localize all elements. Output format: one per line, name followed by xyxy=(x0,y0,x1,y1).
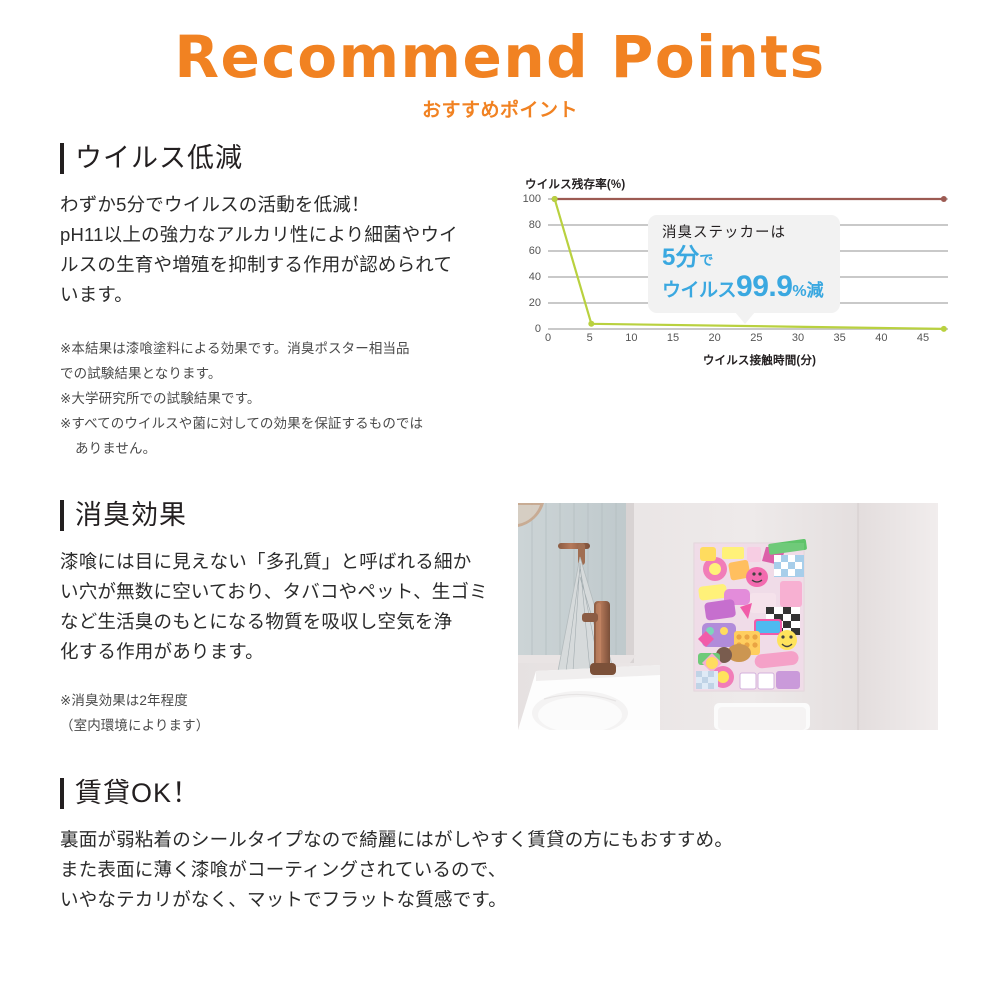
note-line: での試験結果となります。 xyxy=(60,362,510,387)
note-line: ※消臭効果は2年程度 xyxy=(60,689,510,714)
body-line: 漆喰には目に見えない「多孔質」と呼ばれる細か xyxy=(60,547,510,577)
chart-y-tick-label: 20 xyxy=(529,297,541,309)
rental-ok-heading-text: 賃貸OK！ xyxy=(75,780,200,807)
page-header: Recommend Points おすすめポイント xyxy=(0,0,1000,122)
page-root: Recommend Points おすすめポイント ウイルス低減 わずか5分でウ… xyxy=(0,0,1000,1000)
section-rental-ok: 賃貸OK！ 裏面が弱粘着のシールタイプなので綺麗にはがしやすく賃貸の方にもおすす… xyxy=(60,778,940,915)
heading-bar-icon xyxy=(60,500,64,531)
virus-reduction-text-column: ウイルス低減 わずか5分でウイルスの活動を低減！ pH11以上の強力なアルカリ性… xyxy=(60,143,510,462)
body-line: います。 xyxy=(60,280,510,310)
chart-y-tick-label: 60 xyxy=(529,245,541,257)
chart-x-tick-label: 25 xyxy=(750,332,762,344)
chart-x-tick-label: 30 xyxy=(792,332,804,344)
body-line: など生活臭のもとになる物質を吸収し空気を浄 xyxy=(60,607,510,637)
page-title-ja: おすすめポイント xyxy=(0,95,1000,122)
note-line: ※大学研究所での試験結果です。 xyxy=(60,387,510,412)
chart-y-tick-label: 40 xyxy=(529,271,541,283)
virus-survival-chart: ウイルス残存率(%) 020406080100 消臭ステッカーは 5分で ウイル… xyxy=(525,176,945,368)
bathroom-photo-image xyxy=(518,503,938,730)
chart-x-axis-label: ウイルス接触時間(分) xyxy=(548,352,971,368)
body-line: い穴が無数に空いており、タバコやペット、生ゴミ xyxy=(60,577,510,607)
chart-y-tick-label: 0 xyxy=(535,323,541,335)
chart-y-tick-label: 100 xyxy=(523,193,541,205)
chart-data-point xyxy=(588,321,594,327)
chart-x-tick-label: 15 xyxy=(667,332,679,344)
callout-line-2: 5分で xyxy=(662,245,828,270)
page-title-en: Recommend Points xyxy=(0,26,1000,89)
body-line: 化する作用があります。 xyxy=(60,637,510,667)
virus-reduction-body: わずか5分でウイルスの活動を低減！ pH11以上の強力なアルカリ性により細菌やウ… xyxy=(60,190,510,310)
chart-plot-area: 020406080100 消臭ステッカーは 5分で ウイルス99.9%減 xyxy=(548,199,948,329)
chart-x-tick-label: 10 xyxy=(625,332,637,344)
deodorizing-text-column: 消臭効果 漆喰には目に見えない「多孔質」と呼ばれる細か い穴が無数に空いており、… xyxy=(60,500,510,739)
chart-x-tick-label: 20 xyxy=(709,332,721,344)
rental-ok-body: 裏面が弱粘着のシールタイプなので綺麗にはがしやすく賃貸の方にもおすすめ。 また表… xyxy=(60,825,940,915)
deodorizing-heading: 消臭効果 xyxy=(60,500,510,531)
body-line: わずか5分でウイルスの活動を低減！ xyxy=(60,190,510,220)
note-line: ありません。 xyxy=(60,437,510,462)
chart-x-tick-label: 35 xyxy=(834,332,846,344)
callout-minutes: 5分 xyxy=(662,244,699,271)
chart-callout-bubble: 消臭ステッカーは 5分で ウイルス99.9%減 xyxy=(648,215,840,313)
chart-x-tick-label: 40 xyxy=(875,332,887,344)
callout-minutes-suffix: で xyxy=(699,252,713,268)
body-line: 裏面が弱粘着のシールタイプなので綺麗にはがしやすく賃貸の方にもおすすめ。 xyxy=(60,825,940,855)
virus-reduction-heading: ウイルス低減 xyxy=(60,143,510,174)
callout-percent-number: 99.9 xyxy=(736,270,792,303)
note-line: （室内環境によります） xyxy=(60,714,510,739)
deodorizing-heading-text: 消臭効果 xyxy=(75,502,187,529)
chart-y-axis-label: ウイルス残存率(%) xyxy=(525,176,945,192)
chart-x-ticks: 051015202530354045 xyxy=(548,329,948,349)
chart-x-tick-label: 5 xyxy=(587,332,593,344)
note-line: ※すべてのウイルスや菌に対しての効果を保証するものでは xyxy=(60,412,510,437)
callout-reduce-word: 減 xyxy=(807,281,824,300)
virus-reduction-notes: ※本結果は漆喰塗料による効果です。消臭ポスター相当品 での試験結果となります。 … xyxy=(60,337,510,462)
heading-bar-icon xyxy=(60,143,64,174)
chart-data-point xyxy=(552,196,558,202)
note-line: ※本結果は漆喰塗料による効果です。消臭ポスター相当品 xyxy=(60,337,510,362)
chart-x-tick-label: 45 xyxy=(917,332,929,344)
bathroom-photo xyxy=(518,503,938,730)
rental-ok-heading: 賃貸OK！ xyxy=(60,778,940,809)
virus-reduction-heading-text: ウイルス低減 xyxy=(75,145,243,172)
body-line: いやなテカリがなく、マットでフラットな質感です。 xyxy=(60,885,940,915)
chart-x-tick-label: 0 xyxy=(545,332,551,344)
deodorizing-body: 漆喰には目に見えない「多孔質」と呼ばれる細か い穴が無数に空いており、タバコやペ… xyxy=(60,547,510,667)
callout-virus-word: ウイルス xyxy=(662,280,736,301)
heading-bar-icon xyxy=(60,778,64,809)
callout-line-1: 消臭ステッカーは xyxy=(662,224,828,242)
callout-line-3: ウイルス99.9%減 xyxy=(662,271,828,303)
callout-percent-symbol: % xyxy=(792,283,806,300)
deodorizing-notes: ※消臭効果は2年程度 （室内環境によります） xyxy=(60,689,510,739)
body-line: ルスの生育や増殖を抑制する作用が認められて xyxy=(60,250,510,280)
body-line: pH11以上の強力なアルカリ性により細菌やウイ xyxy=(60,220,510,250)
body-line: また表面に薄く漆喰がコーティングされているので、 xyxy=(60,855,940,885)
chart-y-tick-label: 80 xyxy=(529,219,541,231)
chart-data-point xyxy=(941,196,947,202)
